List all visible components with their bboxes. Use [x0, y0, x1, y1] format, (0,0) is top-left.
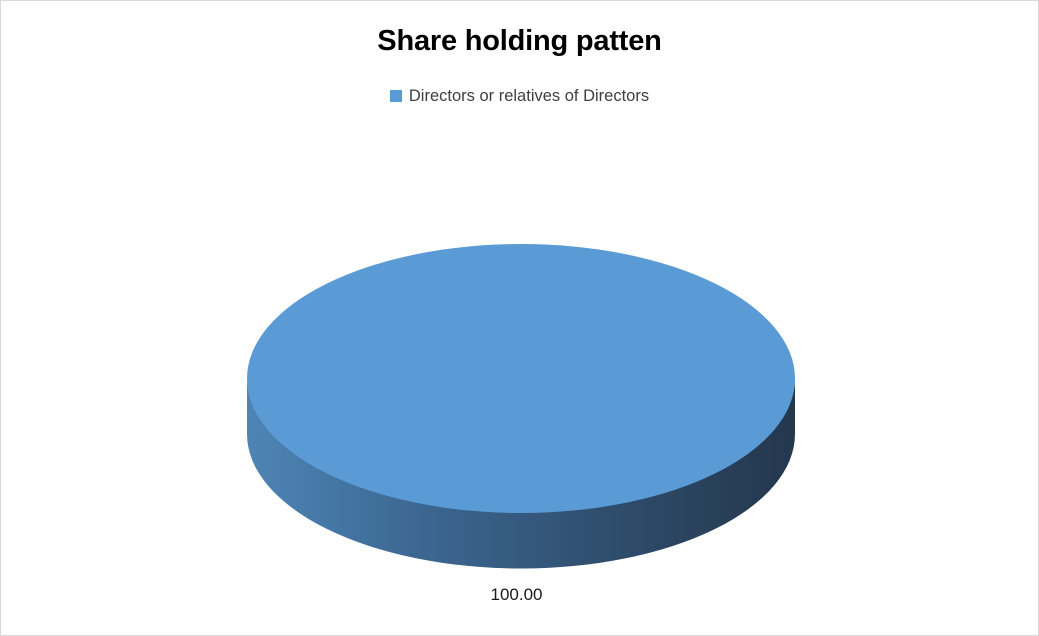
pie-data-label: 100.00	[1, 584, 1038, 606]
pie-chart-3d	[1, 1, 1039, 636]
chart-container: Share holding patten Directors or relati…	[0, 0, 1039, 636]
pie-slice-directors-or-relatives-of-directors[interactable]	[247, 244, 795, 513]
plot-area	[1, 1, 1038, 635]
pie-data-label-value: 100.00	[491, 585, 543, 604]
